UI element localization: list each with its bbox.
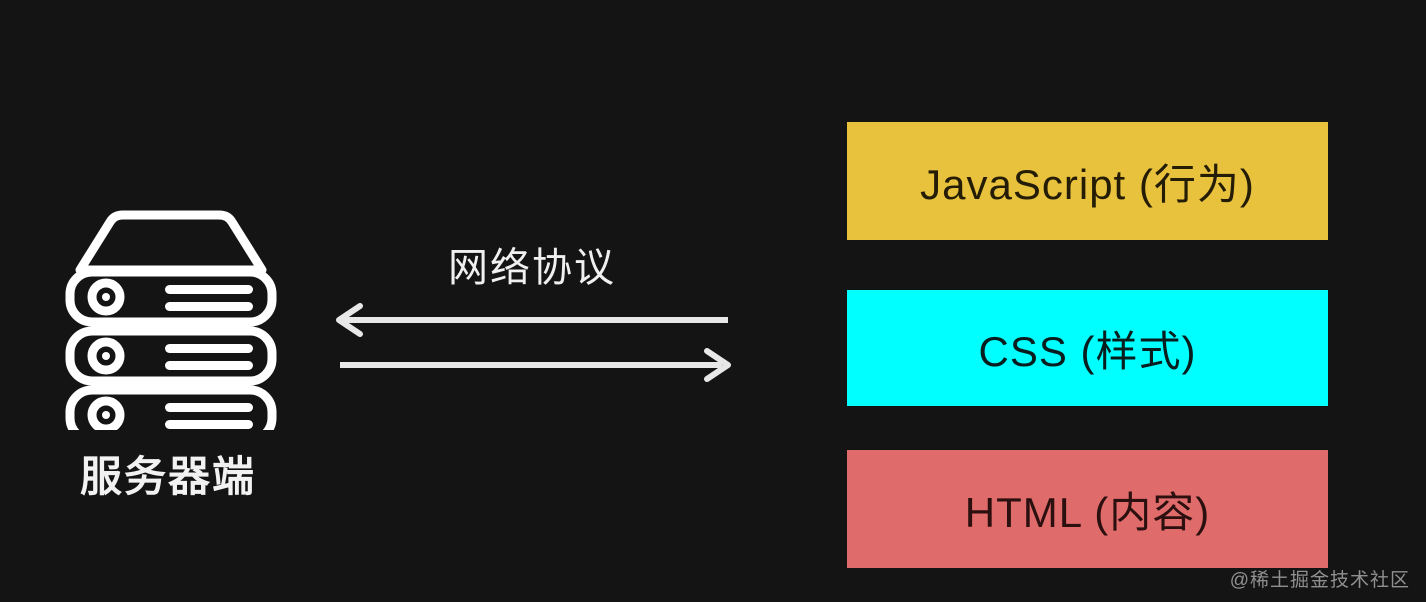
response-arrow [339, 306, 728, 334]
network-protocol-label: 网络协议 [352, 248, 712, 288]
stack-layer-html: HTML (内容) [847, 450, 1328, 568]
stack-layer-css: CSS (样式) [847, 290, 1328, 406]
request-arrow [340, 351, 728, 379]
stack-layer-javascript: JavaScript (行为) [847, 122, 1328, 240]
server-rack-icon [58, 206, 284, 430]
server-label: 服务器端 [0, 456, 336, 498]
stack-layer-html-label: HTML (内容) [965, 479, 1210, 540]
stack-layer-javascript-label: JavaScript (行为) [920, 151, 1255, 212]
watermark: @稀土掘金技术社区 [1230, 565, 1410, 592]
diagram-canvas: 服务器端 网络协议 JavaScript (行为) CSS (样式) HTML … [0, 0, 1426, 602]
protocol-arrows [330, 300, 740, 390]
stack-layer-css-label: CSS (样式) [978, 318, 1196, 379]
